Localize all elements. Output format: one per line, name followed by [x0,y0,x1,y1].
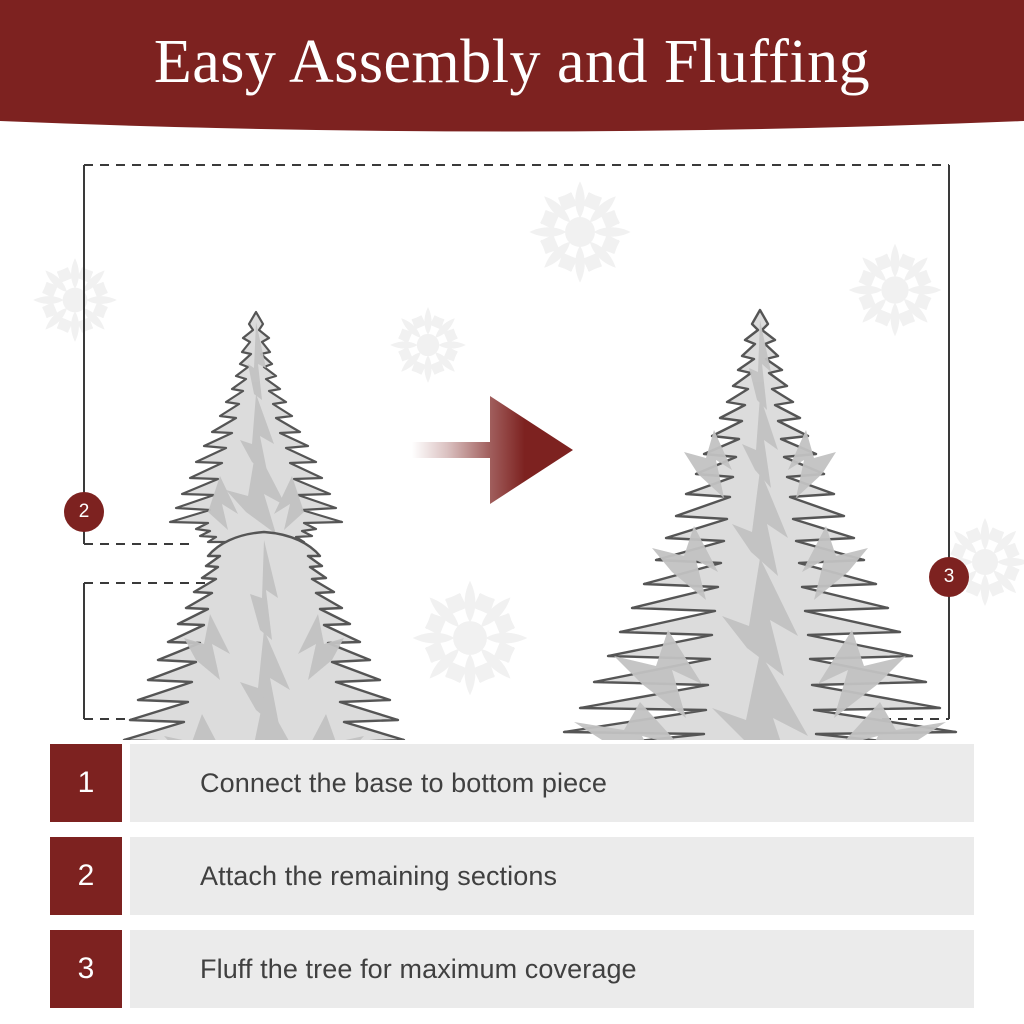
transition-arrow [412,396,573,504]
page-title: Easy Assembly and Fluffing [0,27,1024,97]
spacer [122,930,130,1008]
step-label: Attach the remaining sections [130,837,974,915]
list-item[interactable]: 1 Connect the base to bottom piece [50,744,974,822]
list-item[interactable]: 2 Attach the remaining sections [50,837,974,915]
marker-3[interactable]: 3 [929,557,969,597]
step-label: Connect the base to bottom piece [130,744,974,822]
spacer [122,837,130,915]
step-number-badge: 3 [50,930,122,1008]
steps-list: 1 Connect the base to bottom piece 2 Att… [0,740,1024,1024]
infographic-page: Easy Assembly and Fluffing [0,0,1024,1024]
marker-2[interactable]: 2 [64,492,104,532]
spacer [122,744,130,822]
tree-bottom-section [122,532,406,740]
diagram-graphics [0,140,1024,740]
step-number-badge: 1 [50,744,122,822]
tree-top-section [170,312,342,552]
step-number-badge: 2 [50,837,122,915]
list-item[interactable]: 3 Fluff the tree for maximum coverage [50,930,974,1008]
assembly-diagram: 1 2 3 [0,140,1024,740]
step-label: Fluff the tree for maximum coverage [130,930,974,1008]
header-banner: Easy Assembly and Fluffing [0,0,1024,140]
tree-assembled-full [554,310,966,740]
